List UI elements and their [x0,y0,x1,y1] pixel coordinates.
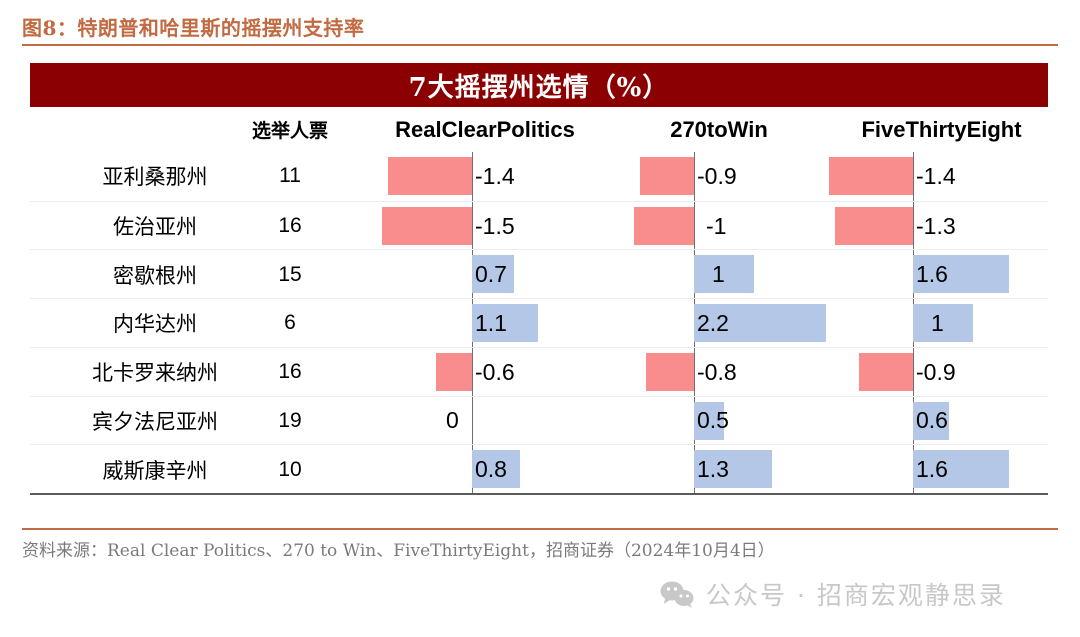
value-bar [829,157,913,195]
column-header-270towin: 270toWin [610,107,828,152]
zero-axis-line [913,152,914,201]
value-label: 0.7 [475,250,507,299]
value-label: 0.8 [475,445,507,494]
table-row: 威斯康辛州100.81.31.6 [30,444,1048,494]
electoral-votes-value: 16 [225,202,355,251]
value-bar [646,353,694,391]
value-label: 0 [446,397,459,446]
value-label: -0.6 [475,348,515,397]
zero-axis-line [472,348,473,397]
table-row: 密歇根州150.711.6 [30,249,1048,299]
value-label: -1.5 [475,202,515,251]
column-header-fivethirtyeight: FiveThirtyEight [835,107,1048,152]
swing-state-table: 7大摇摆州选情（%） 选举人票 RealClearPolitics 270toW… [30,63,1048,528]
value-label: 1.6 [916,250,948,299]
source-divider [22,528,1058,530]
electoral-votes-value: 10 [225,445,355,494]
value-bar [382,207,472,245]
title-divider [22,44,1058,46]
zero-axis-line [694,202,695,251]
column-header-electoral-votes: 选举人票 [220,107,360,152]
watermark: 公众号 · 招商宏观静思录 [660,576,1006,612]
table-column-headers: 选举人票 RealClearPolitics 270toWin FiveThir… [30,107,1048,152]
table-bottom-divider [30,493,1048,495]
value-label: -0.9 [697,152,737,201]
value-label: 1.6 [916,445,948,494]
value-bar [859,353,913,391]
electoral-votes-value: 6 [225,299,355,348]
electoral-votes-value: 15 [225,250,355,299]
table-row: 北卡罗来纳州16-0.6-0.8-0.9 [30,347,1048,397]
value-label: -1 [706,202,726,251]
value-bar [388,157,472,195]
value-label: 0.5 [697,397,729,446]
zero-axis-line [472,397,473,446]
value-label: 1 [931,299,944,348]
source-note: 资料来源：Real Clear Politics、270 to Win、Five… [22,536,775,561]
zero-axis-line [913,348,914,397]
electoral-votes-value: 16 [225,348,355,397]
value-label: -1.3 [916,202,956,251]
zero-axis-line [913,202,914,251]
electoral-votes-value: 19 [225,397,355,446]
zero-axis-line [694,348,695,397]
value-bar [835,207,913,245]
table-row: 宾夕法尼亚州1900.50.6 [30,396,1048,446]
column-header-realclearpolitics: RealClearPolitics [370,107,600,152]
table-body: 亚利桑那州11-1.4-0.9-1.4佐治亚州16-1.5-1-1.3密歇根州1… [30,152,1048,493]
value-label: -1.4 [475,152,515,201]
value-label: -0.9 [916,348,956,397]
value-bar [640,157,694,195]
table-row: 亚利桑那州11-1.4-0.9-1.4 [30,152,1048,201]
value-bar [436,353,472,391]
value-bar [634,207,694,245]
value-label: -0.8 [697,348,737,397]
watermark-text: 公众号 · 招商宏观静思录 [706,576,1006,612]
electoral-votes-value: 11 [225,152,355,201]
zero-axis-line [694,152,695,201]
wechat-icon [660,580,694,608]
zero-axis-line [472,202,473,251]
value-label: 0.6 [916,397,948,446]
table-banner-title: 7大摇摆州选情（%） [30,63,1048,107]
value-label: 1.3 [697,445,729,494]
zero-axis-line [472,152,473,201]
value-label: -1.4 [916,152,956,201]
table-row: 佐治亚州16-1.5-1-1.3 [30,201,1048,251]
value-label: 1 [712,250,725,299]
table-row: 内华达州61.12.21 [30,298,1048,348]
value-label: 2.2 [697,299,729,348]
page-title: 图8：特朗普和哈里斯的摇摆州支持率 [22,12,364,41]
value-label: 1.1 [475,299,507,348]
